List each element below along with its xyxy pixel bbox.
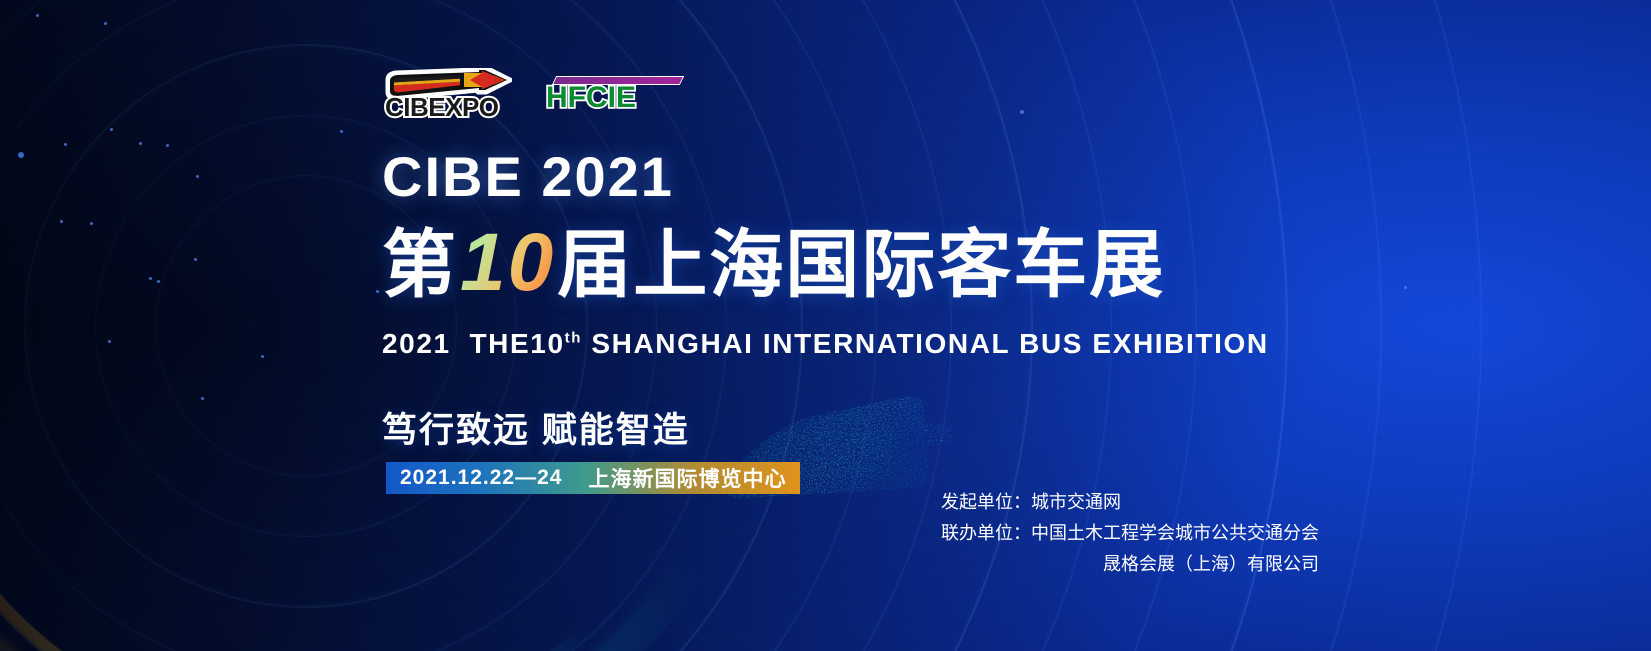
logo-row: CIBEXPO HFCIE [382, 68, 686, 126]
title-english-rest: SHANGHAI INTERNATIONAL BUS EXHIBITION [591, 328, 1268, 359]
event-date: 2021.12.22—24 [400, 466, 562, 490]
hfcie-logo: HFCIE [546, 73, 686, 121]
slogan: 笃行致远 赋能智造 [382, 402, 690, 453]
organizer-line-3: 晟格会展（上海）有限公司 [941, 549, 1319, 580]
organizer-line-2: 联办单位：中国土木工程学会城市公共交通分会 [941, 518, 1319, 549]
hfcie-wordmark: HFCIE [546, 81, 636, 115]
hfcie-text: HFCIE [546, 81, 636, 114]
title-chinese-prefix: 第 [382, 223, 458, 306]
title-english-the: THE10 [469, 328, 564, 359]
event-venue: 上海新国际博览中心 [588, 463, 786, 493]
title-edition-number: 10 [458, 217, 557, 308]
cibexpo-logo: CIBEXPO [382, 68, 512, 126]
cibexpo-text: CIBEXPO [385, 92, 499, 122]
title-english: 2021 THE10th SHANGHAI INTERNATIONAL BUS … [382, 328, 1269, 360]
background-speckles [0, 0, 1651, 651]
event-banner: CIBEXPO HFCIE CIBE 2021 第10届上海国际客车展 2021… [0, 0, 1651, 651]
date-venue-bar: 2021.12.22—24 上海新国际博览中心 [386, 462, 800, 494]
title-english-ordinal: th [565, 330, 582, 347]
organizer-block: 发起单位：城市交通网 联办单位：中国土木工程学会城市公共交通分会 晟格会展（上海… [941, 487, 1319, 580]
cibexpo-wordmark: CIBEXPO [385, 92, 499, 123]
title-chinese-suffix: 届上海国际客车展 [557, 223, 1165, 306]
organizer-line-1: 发起单位：城市交通网 [941, 487, 1319, 518]
event-code: CIBE 2021 [382, 144, 674, 209]
title-english-year: 2021 [382, 328, 451, 359]
title-chinese: 第10届上海国际客车展 [382, 222, 1165, 304]
